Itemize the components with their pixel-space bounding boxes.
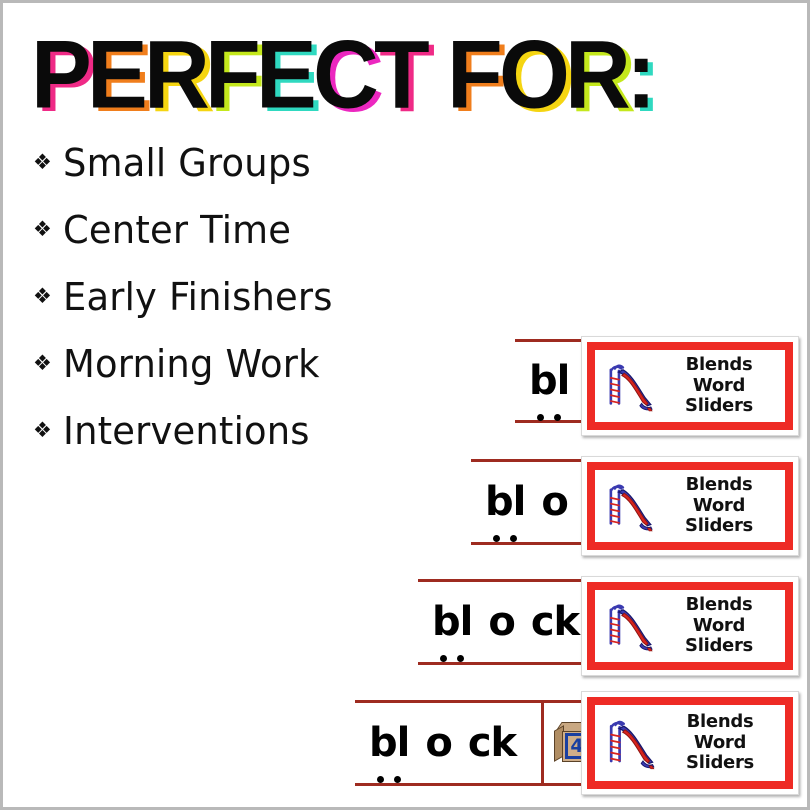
letter-glyph: o [488,599,514,645]
sound-dots [485,535,525,542]
card-title-text: Blends Word Sliders [661,712,785,775]
title-letter-6: T [374,27,429,123]
list-item-label: Early Finishers [63,275,333,319]
ticket-notch [595,541,603,550]
list-item-label: Small Groups [63,141,311,185]
ticket-notch [777,541,785,550]
blends-word-sliders-card: Blends Word Sliders [581,336,799,436]
ticket-notch [777,367,785,376]
ticket-notch [777,779,785,788]
letter-tile: o [488,599,514,645]
card-title-line2: Word Sliders [659,496,779,538]
letter-tile: bl [485,479,525,525]
list-item-label: Morning Work [63,342,320,386]
ticket-notch [777,394,785,403]
sound-dots [432,655,472,662]
ticket-notch [595,723,603,732]
letter-glyph: ck [468,720,516,766]
letter-tile: o [541,479,567,525]
ticket-notch [595,394,603,403]
sound-dot [537,414,544,421]
title-card-frame: Blends Word Sliders [587,582,793,670]
list-item-label: Interventions [63,409,310,453]
card-title-line1: Blends [659,595,779,616]
ticket-notch [595,607,603,616]
title-letter-10: R [565,27,630,123]
sound-dot [377,776,384,783]
playground-slide-icon [601,712,661,774]
card-title-line2: Word Sliders [659,376,779,418]
card-slide-image [601,596,659,656]
diamond-bullet-icon: ❖ [29,353,63,374]
title-letter-11: : [626,27,655,123]
title-letter-3: F [205,27,260,123]
card-slide-image [601,356,659,416]
ticket-notch [777,634,785,643]
card-title-text: Blends Word Sliders [659,595,785,658]
title-card-frame: Blends Word Sliders [587,697,793,789]
blends-word-sliders-card: Blends Word Sliders [581,576,799,676]
letter-tile: bl [432,599,472,645]
card-title-line2: Word Sliders [661,733,779,775]
list-item: ❖Small Groups [29,129,459,196]
title-letter-9: O [499,27,569,123]
letter-glyph: bl [485,479,525,525]
letter-glyph: ck [531,599,579,645]
playground-slide-icon [601,476,659,536]
letter-glyph: bl [529,358,569,404]
diamond-bullet-icon: ❖ [29,152,63,173]
diamond-bullet-icon: ❖ [29,286,63,307]
ticket-notch [777,723,785,732]
ticket-notch [595,421,603,430]
card-title-line1: Blends [661,712,779,733]
sound-dot [493,535,500,542]
ticket-notch [777,751,785,760]
card-slide-image [601,476,659,536]
sound-dot [394,776,401,783]
list-item: ❖Interventions [29,397,459,464]
playground-slide-icon [601,356,659,416]
title-card-frame: Blends Word Sliders [587,462,793,550]
poster-canvas: PERFECTFOR: ❖Small Groups❖Center Time❖Ea… [0,0,810,810]
page-title: PERFECTFOR: [31,27,654,117]
letter-tile: bl [529,358,569,404]
card-title-line1: Blends [659,475,779,496]
sound-dots [369,776,409,783]
title-letter-4: E [256,27,316,123]
diamond-bullet-icon: ❖ [29,420,63,441]
title-letter-8: F [447,27,502,123]
letter-tile: bl [369,720,409,766]
card-title-line1: Blends [659,355,779,376]
ticket-notch [595,487,603,496]
card-slide-image [601,712,661,774]
playground-slide-icon [601,596,659,656]
title-card-frame: Blends Word Sliders [587,342,793,430]
sound-dots [529,414,569,421]
blends-word-sliders-card: Blends Word Sliders [581,456,799,556]
sound-dot [554,414,561,421]
letter-strip: block 4 [355,700,603,786]
card-title-line2: Word Sliders [659,616,779,658]
ticket-notch [595,367,603,376]
sound-dot [457,655,464,662]
list-item-label: Center Time [63,208,291,252]
ticket-notch [595,661,603,670]
ticket-notch [595,751,603,760]
blends-word-sliders-card: Blends Word Sliders [581,691,799,795]
letter-strip: block [418,579,603,665]
letter-glyph: o [425,720,451,766]
sound-dot [440,655,447,662]
title-letter-2: R [144,27,209,123]
ticket-notch [595,779,603,788]
letter-glyph: o [541,479,567,525]
list-item: ❖Center Time [29,196,459,263]
list-item: ❖Morning Work [29,330,459,397]
ticket-notch [777,607,785,616]
diamond-bullet-icon: ❖ [29,219,63,240]
card-title-text: Blends Word Sliders [659,475,785,538]
title-letter-0: P [31,27,91,123]
letter-tiles: block [418,582,603,662]
ticket-notch [777,421,785,430]
benefits-list: ❖Small Groups❖Center Time❖Early Finisher… [29,129,459,464]
sound-dot [510,535,517,542]
ticket-notch [777,514,785,523]
title-letter-5: C [313,27,378,123]
ticket-notch [595,514,603,523]
letter-glyph: bl [369,720,409,766]
ticket-notch [777,661,785,670]
letter-tile: ck [468,720,516,766]
letter-tile: o [425,720,451,766]
ticket-notch [777,487,785,496]
letter-tile: ck [531,599,579,645]
letter-glyph: bl [432,599,472,645]
card-title-text: Blends Word Sliders [659,355,785,418]
letter-tiles: block [355,703,541,783]
list-item: ❖Early Finishers [29,263,459,330]
ticket-notch [595,634,603,643]
title-letter-1: E [87,27,147,123]
